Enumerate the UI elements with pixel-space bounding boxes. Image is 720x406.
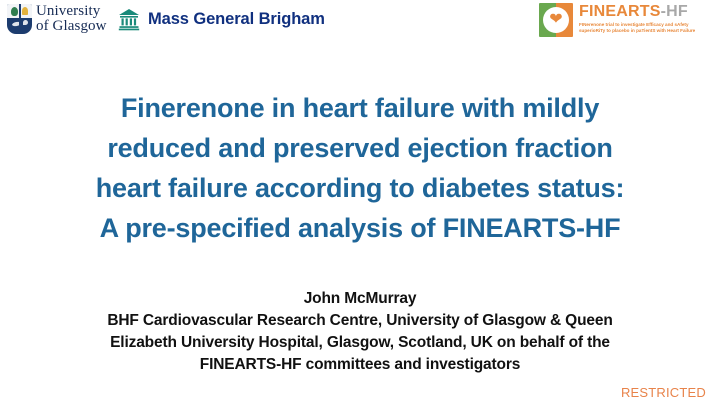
university-crest-icon — [7, 4, 32, 34]
slide-header: University of Glasgow Mass General Brigh… — [0, 0, 720, 46]
title-line-1: Finerenone in heart failure with mildly — [0, 88, 720, 128]
university-of-glasgow-wordmark: University of Glasgow — [36, 4, 107, 35]
finearts-subtitle: FINerenone trial to investigate Efficacy… — [579, 22, 714, 34]
title-line-3: heart failure according to diabetes stat… — [0, 168, 720, 208]
title-line-2: reduced and preserved ejection fraction — [0, 128, 720, 168]
classical-building-icon — [117, 7, 141, 31]
title-line-4: A pre-specified analysis of FINEARTS-HF — [0, 208, 720, 248]
glasgow-wordmark-line-1: University — [36, 4, 107, 19]
finearts-hf-logo: ❤ FINEARTS-HF FINerenone trial to invest… — [539, 3, 714, 37]
affiliation-line-2: Elizabeth University Hospital, Glasgow, … — [50, 332, 670, 354]
finearts-name: FINEARTS — [579, 3, 661, 20]
author-name: John McMurray — [50, 288, 670, 310]
author-affiliation-block: John McMurray BHF Cardiovascular Researc… — [50, 288, 670, 376]
university-of-glasgow-logo: University of Glasgow — [7, 4, 107, 35]
glasgow-wordmark-line-2: of Glasgow — [36, 19, 107, 34]
finearts-hf-text: FINEARTS-HF FINerenone trial to investig… — [579, 3, 714, 34]
mass-general-brigham-wordmark: Mass General Brigham — [148, 10, 325, 29]
slide-title: Finerenone in heart failure with mildly … — [0, 88, 720, 248]
presentation-slide: University of Glasgow Mass General Brigh… — [0, 0, 720, 406]
restricted-label: RESTRICTED — [621, 385, 706, 400]
mass-general-brigham-logo: Mass General Brigham — [117, 7, 325, 31]
finearts-suffix: -HF — [661, 3, 688, 20]
finearts-hf-wordmark: FINEARTS-HF — [579, 4, 714, 20]
affiliation-line-3: FINEARTS-HF committees and investigators — [50, 354, 670, 376]
affiliation-line-1: BHF Cardiovascular Research Centre, Univ… — [50, 310, 670, 332]
heart-in-circle-icon: ❤ — [539, 3, 573, 37]
